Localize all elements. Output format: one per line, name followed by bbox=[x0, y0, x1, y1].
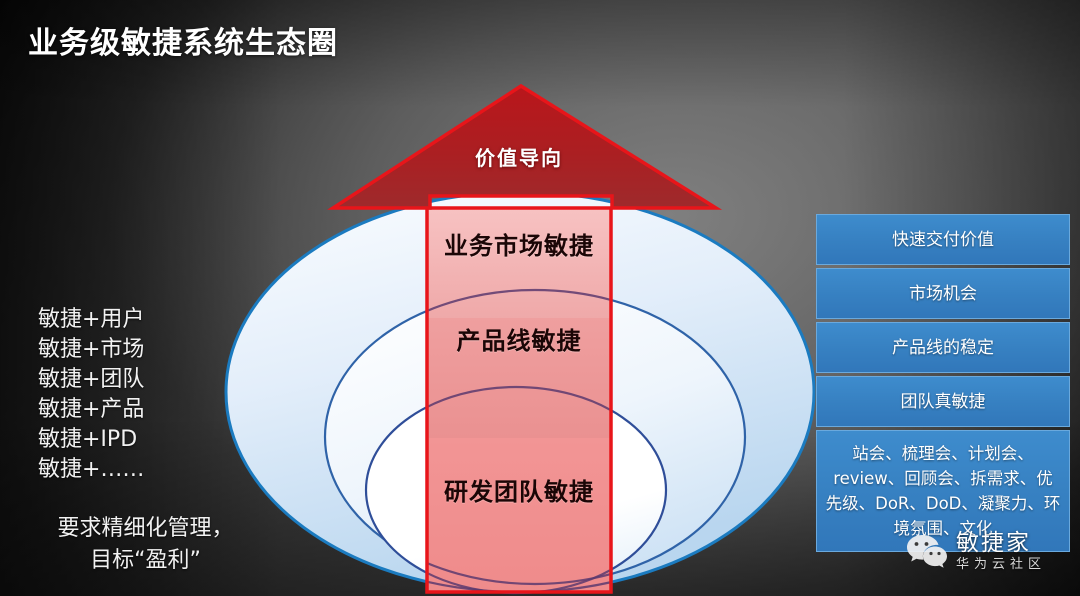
outcome-box[interactable]: 市场机会 bbox=[816, 268, 1070, 319]
outcome-box-list: 快速交付价值 市场机会 产品线的稳定 团队真敏捷 站会、梳理会、计划会、revi… bbox=[816, 214, 1070, 555]
outcome-box[interactable]: 快速交付价值 bbox=[816, 214, 1070, 265]
band-product-line bbox=[427, 318, 611, 438]
slide-canvas: 业务级敏捷系统生态圈 敏捷+用户 敏捷+市场 敏捷+团队 敏捷+产品 敏捷+IP… bbox=[0, 0, 1080, 596]
outcome-box[interactable]: 站会、梳理会、计划会、review、回顾会、拆需求、优先级、DoR、DoD、凝聚… bbox=[816, 430, 1070, 552]
outcome-box[interactable]: 产品线的稳定 bbox=[816, 322, 1070, 373]
value-arrow-icon bbox=[333, 86, 716, 208]
outcome-box[interactable]: 团队真敏捷 bbox=[816, 376, 1070, 427]
band-rd-team bbox=[427, 438, 611, 592]
